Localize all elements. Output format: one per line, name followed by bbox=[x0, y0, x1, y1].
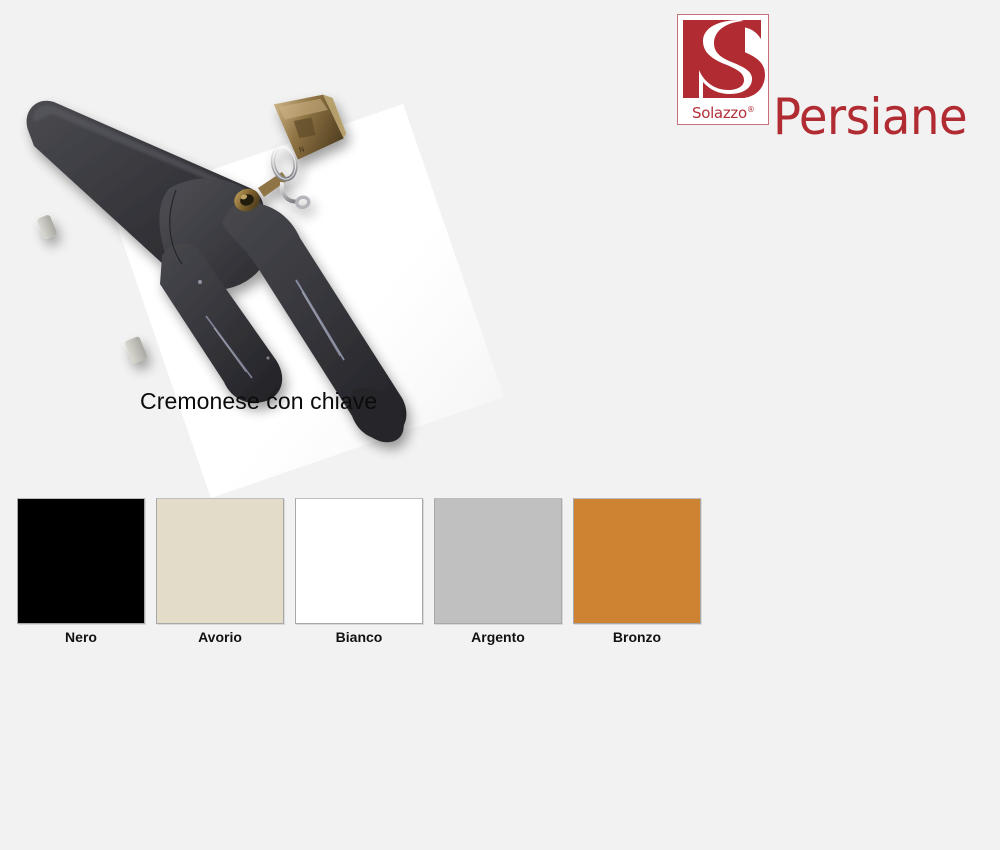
swatch-label-nero: Nero bbox=[65, 629, 97, 646]
cremonese-con-chiave-window-handle-photo[interactable]: N bbox=[0, 60, 560, 480]
solazzo-logo-text: Solazzo® bbox=[678, 106, 768, 121]
product-showcase: N Cremonese con chiave bbox=[0, 60, 560, 480]
swatch-chip-bianco[interactable] bbox=[295, 498, 423, 624]
swatch-label-argento: Argento bbox=[471, 629, 525, 646]
color-swatch-bianco[interactable]: Bianco bbox=[295, 498, 423, 646]
swatch-label-bronzo: Bronzo bbox=[613, 629, 661, 646]
color-swatch-row: Nero Avorio Bianco Argento Bronzo bbox=[17, 498, 701, 646]
swatch-chip-nero[interactable] bbox=[17, 498, 145, 624]
color-swatch-argento[interactable]: Argento bbox=[434, 498, 562, 646]
solazzo-logo[interactable]: Solazzo® bbox=[677, 14, 769, 125]
swatch-chip-argento[interactable] bbox=[434, 498, 562, 624]
swatch-label-bianco: Bianco bbox=[336, 629, 383, 646]
swatch-chip-bronzo[interactable] bbox=[573, 498, 701, 624]
product-caption: Cremonese con chiave bbox=[140, 388, 377, 415]
solazzo-s-logo-icon bbox=[683, 20, 765, 98]
solazzo-logo-wordtext: Solazzo bbox=[692, 104, 747, 122]
color-swatch-avorio[interactable]: Avorio bbox=[156, 498, 284, 646]
swatch-label-avorio: Avorio bbox=[198, 629, 242, 646]
color-swatch-nero[interactable]: Nero bbox=[17, 498, 145, 646]
persiane-wordmark: Persiane bbox=[773, 92, 967, 142]
swatch-chip-avorio[interactable] bbox=[156, 498, 284, 624]
registered-trademark-mark: ® bbox=[747, 105, 755, 114]
color-swatch-bronzo[interactable]: Bronzo bbox=[573, 498, 701, 646]
brand-header: Solazzo® Persiane bbox=[677, 14, 982, 142]
